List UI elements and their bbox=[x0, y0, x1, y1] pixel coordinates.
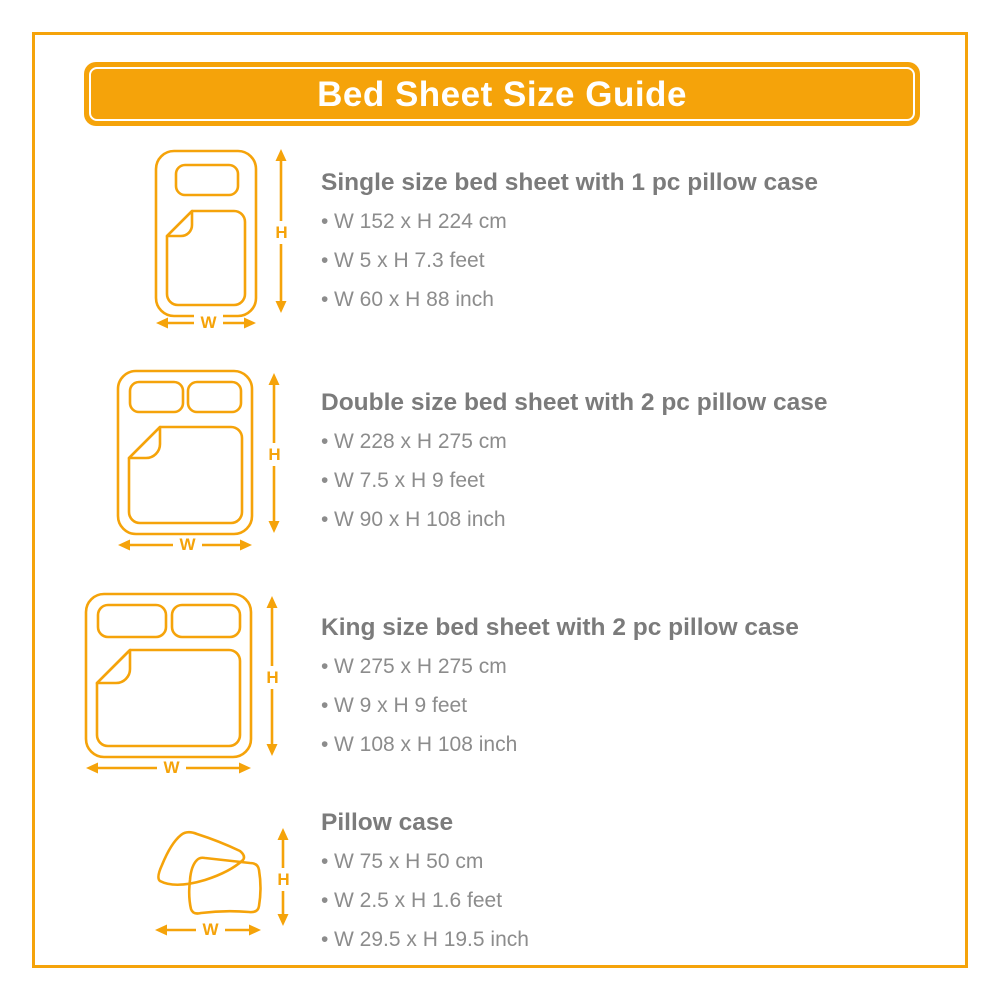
spec-text: W 108 x H 108 inch bbox=[334, 733, 517, 756]
spec-text: W 75 x H 50 cm bbox=[334, 850, 483, 873]
bullet-icon: • bbox=[321, 929, 334, 950]
spec-text: W 29.5 x H 19.5 inch bbox=[334, 928, 529, 951]
bullet-icon: • bbox=[321, 656, 334, 677]
list-item: •W 90 x H 108 inch bbox=[321, 509, 827, 530]
bullet-icon: • bbox=[321, 470, 334, 491]
bullet-icon: • bbox=[321, 509, 334, 530]
bullet-icon: • bbox=[321, 734, 334, 755]
spec-text: W 9 x H 9 feet bbox=[334, 694, 467, 717]
list-item: •W 7.5 x H 9 feet bbox=[321, 470, 827, 491]
double-bed-icon: H W bbox=[112, 365, 287, 557]
single-bed-icon: H W bbox=[150, 145, 310, 340]
list-item: •W 228 x H 275 cm bbox=[321, 431, 827, 452]
spec-text: W 5 x H 7.3 feet bbox=[334, 249, 485, 272]
spec-text: W 2.5 x H 1.6 feet bbox=[334, 889, 502, 912]
item-title: King size bed sheet with 2 pc pillow cas… bbox=[321, 615, 799, 642]
list-item: •W 152 x H 224 cm bbox=[321, 211, 818, 232]
list-item: •W 75 x H 50 cm bbox=[321, 851, 529, 872]
size-text-double: Double size bed sheet with 2 pc pillow c… bbox=[321, 390, 827, 548]
width-dimension-label: W bbox=[157, 759, 186, 776]
spec-text: W 90 x H 108 inch bbox=[334, 508, 506, 531]
size-row-king: H W bbox=[80, 588, 285, 780]
size-text-pillow-case: Pillow case •W 75 x H 50 cm •W 2.5 x H 1… bbox=[321, 810, 529, 968]
list-item: •W 9 x H 9 feet bbox=[321, 695, 799, 716]
size-row-pillow-case: H W bbox=[145, 820, 305, 945]
list-item: •W 29.5 x H 19.5 inch bbox=[321, 929, 529, 950]
spec-list: •W 75 x H 50 cm •W 2.5 x H 1.6 feet •W 2… bbox=[321, 851, 529, 950]
list-item: •W 5 x H 7.3 feet bbox=[321, 250, 818, 271]
spec-text: W 60 x H 88 inch bbox=[334, 288, 494, 311]
item-title: Double size bed sheet with 2 pc pillow c… bbox=[321, 390, 827, 417]
bullet-icon: • bbox=[321, 851, 334, 872]
spec-text: W 228 x H 275 cm bbox=[334, 430, 507, 453]
size-text-king: King size bed sheet with 2 pc pillow cas… bbox=[321, 615, 799, 773]
height-dimension-label: H bbox=[271, 221, 292, 244]
width-dimension-label: W bbox=[173, 536, 202, 553]
title-banner: Bed Sheet Size Guide bbox=[84, 62, 920, 126]
bullet-icon: • bbox=[321, 431, 334, 452]
bullet-icon: • bbox=[321, 890, 334, 911]
spec-list: •W 152 x H 224 cm •W 5 x H 7.3 feet •W 6… bbox=[321, 211, 818, 310]
height-dimension-label: H bbox=[264, 443, 285, 466]
spec-text: W 275 x H 275 cm bbox=[334, 655, 507, 678]
list-item: •W 60 x H 88 inch bbox=[321, 289, 818, 310]
bullet-icon: • bbox=[321, 211, 334, 232]
pillow-case-icon: H W bbox=[145, 820, 305, 945]
height-dimension-label: H bbox=[273, 868, 294, 891]
width-dimension-label: W bbox=[196, 921, 225, 938]
width-dimension-label: W bbox=[194, 314, 223, 331]
bullet-icon: • bbox=[321, 250, 334, 271]
size-row-single: H W bbox=[150, 145, 310, 340]
spec-list: •W 275 x H 275 cm •W 9 x H 9 feet •W 108… bbox=[321, 656, 799, 755]
item-title: Pillow case bbox=[321, 810, 529, 837]
page-title: Bed Sheet Size Guide bbox=[317, 77, 687, 112]
height-dimension-label: H bbox=[262, 666, 283, 689]
size-row-double: H W bbox=[112, 365, 287, 557]
king-bed-icon: H W bbox=[80, 588, 285, 780]
bullet-icon: • bbox=[321, 695, 334, 716]
bed-sheet-size-guide-infographic: Bed Sheet Size Guide H W bbox=[0, 0, 1001, 1000]
size-text-single: Single size bed sheet with 1 pc pillow c… bbox=[321, 170, 818, 328]
spec-text: W 7.5 x H 9 feet bbox=[334, 469, 485, 492]
spec-list: •W 228 x H 275 cm •W 7.5 x H 9 feet •W 9… bbox=[321, 431, 827, 530]
list-item: •W 275 x H 275 cm bbox=[321, 656, 799, 677]
spec-text: W 152 x H 224 cm bbox=[334, 210, 507, 233]
bullet-icon: • bbox=[321, 289, 334, 310]
list-item: •W 2.5 x H 1.6 feet bbox=[321, 890, 529, 911]
list-item: •W 108 x H 108 inch bbox=[321, 734, 799, 755]
item-title: Single size bed sheet with 1 pc pillow c… bbox=[321, 170, 818, 197]
